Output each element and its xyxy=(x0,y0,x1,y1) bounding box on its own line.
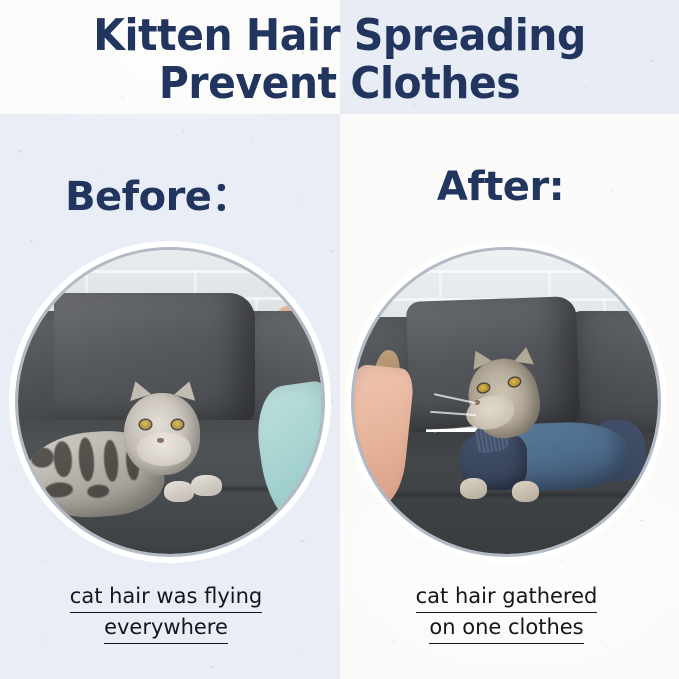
before-panel: Before： xyxy=(0,114,340,679)
before-label: Before： xyxy=(0,164,340,222)
before-photo xyxy=(18,250,322,554)
after-photo xyxy=(354,250,658,554)
after-label: After: xyxy=(340,164,679,210)
before-cat-eye-right xyxy=(172,420,183,429)
page-title-line-1: Kitten Hair Spreading xyxy=(93,10,586,61)
after-panel: After: xyxy=(340,114,679,679)
before-cat-muzzle xyxy=(137,432,192,465)
after-caption: cat hair gathered on one clothes xyxy=(340,582,679,644)
sofa-seat-edge xyxy=(354,493,658,497)
product-comparison-infographic: Kitten Hair Spreading Prevent Clothes Be… xyxy=(0,0,679,679)
after-caption-line-1: cat hair gathered xyxy=(416,582,598,613)
before-caption-line-2: everywhere xyxy=(104,613,228,644)
page-title-line-2: Prevent Clothes xyxy=(24,60,655,108)
after-photo-frame xyxy=(354,250,658,554)
before-photo-frame xyxy=(18,250,322,554)
before-caption-line-1: cat hair was flying xyxy=(70,582,262,613)
after-cat-paw-right xyxy=(512,481,539,502)
before-cat-paw-right xyxy=(191,475,221,496)
after-caption-line-2: on one clothes xyxy=(429,613,583,644)
before-cat-paw-left xyxy=(164,481,194,502)
before-cat-eye-left xyxy=(140,420,151,429)
after-cat-paw-left xyxy=(460,478,487,499)
page-title: Kitten Hair Spreading Prevent Clothes xyxy=(24,12,655,107)
before-caption: cat hair was flying everywhere xyxy=(0,582,340,644)
